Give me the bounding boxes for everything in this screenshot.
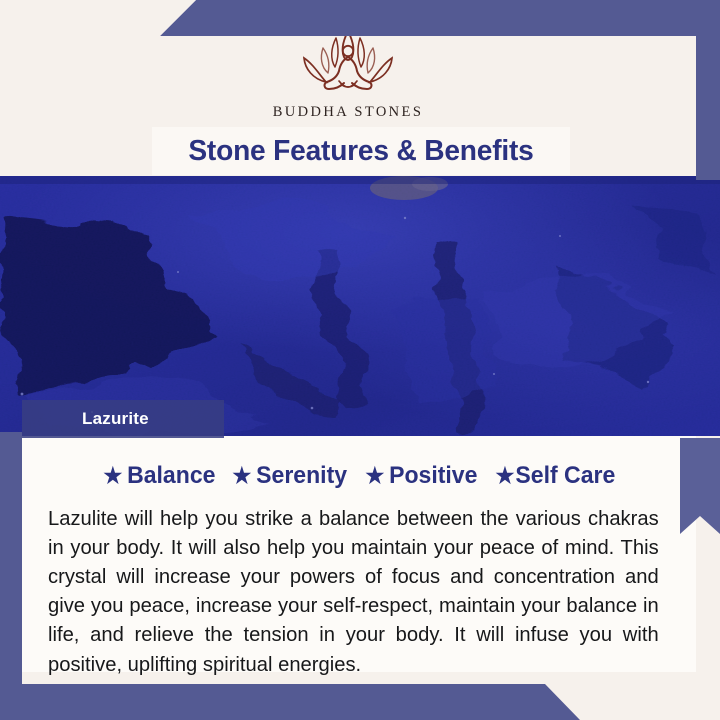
content-panel: ★ Balance ★ Serenity ★ Positive ★ Self C… (22, 436, 696, 672)
left-accent-rail (0, 432, 22, 720)
benefits-list: ★ Balance ★ Serenity ★ Positive ★ Self C… (48, 462, 670, 490)
brand-logo: BUDDHA STONES (0, 24, 696, 121)
brand-wordmark: BUDDHA STONES (273, 104, 424, 121)
benefit-label: Self Care (515, 462, 615, 490)
benefit-label: Balance (127, 462, 215, 490)
bottom-accent-band (0, 684, 720, 720)
page-title: Stone Features & Benefits (188, 135, 533, 168)
stone-description: Lazulite will help you strike a balance … (48, 504, 661, 679)
benefit-item-balance: ★ Balance (103, 462, 215, 490)
lazurite-stone-image (0, 176, 720, 436)
star-icon: ★ (365, 465, 384, 487)
infographic-card: BUDDHA STONES Stone Features & Benefits (0, 0, 720, 720)
benefit-label: Positive (389, 462, 477, 490)
star-icon: ★ (495, 465, 514, 487)
stone-name-text: Lazurite (82, 409, 149, 429)
star-icon: ★ (103, 465, 122, 487)
stone-name-label: Lazurite (22, 400, 224, 438)
stone-photo (0, 176, 720, 436)
benefit-label: Serenity (257, 462, 348, 490)
star-icon: ★ (233, 465, 252, 487)
right-accent-rail-mid (680, 438, 720, 534)
benefit-item-serenity: ★ Serenity (233, 462, 348, 490)
benefit-item-self-care: ★ Self Care (495, 462, 615, 490)
benefit-item-positive: ★ Positive (365, 462, 477, 490)
page-title-banner: Stone Features & Benefits (152, 127, 570, 175)
